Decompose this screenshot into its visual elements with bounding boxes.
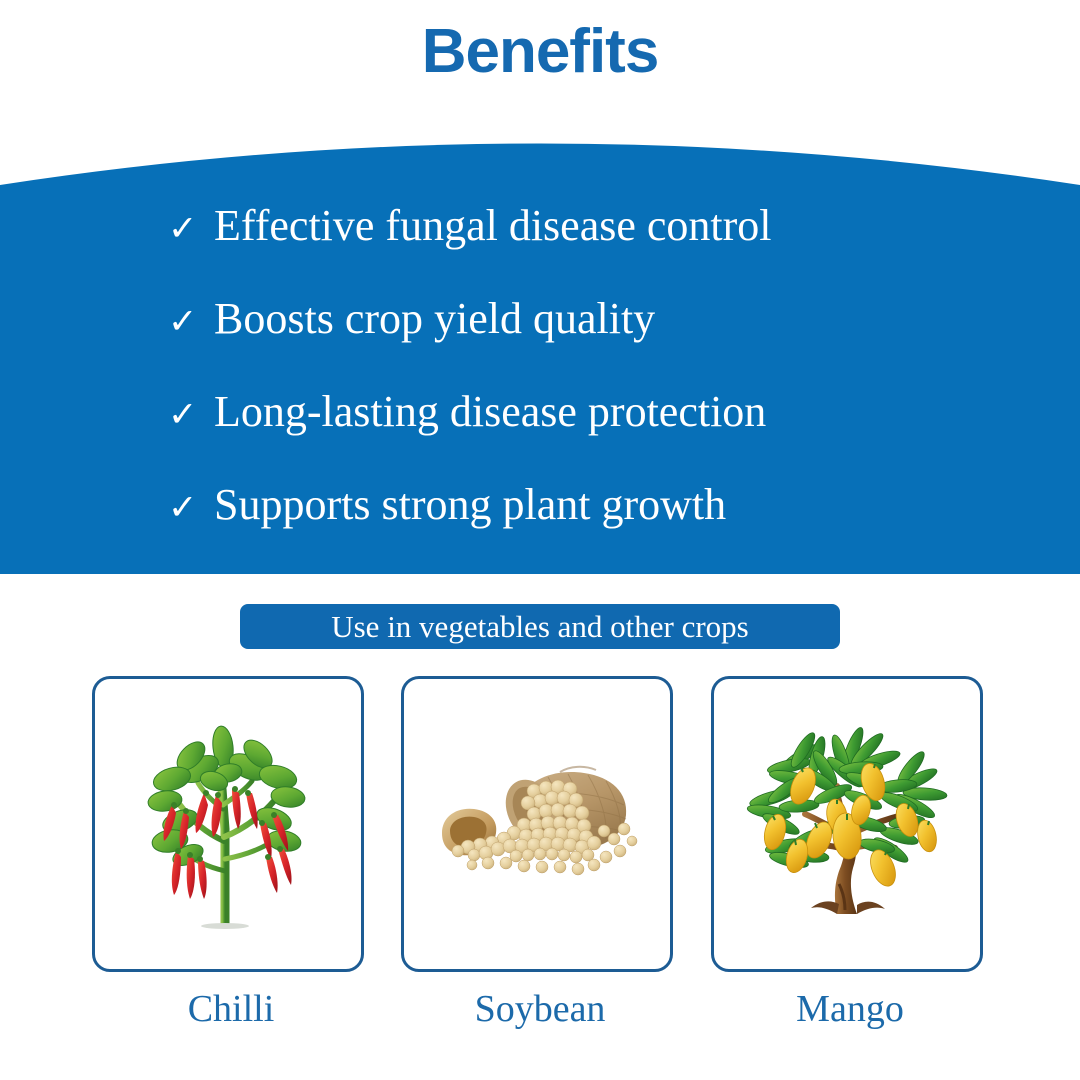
- chilli-plant-illustration: [128, 709, 328, 939]
- mango-tree-illustration: [741, 724, 953, 924]
- benefit-label: Long-lasting disease protection: [214, 390, 766, 434]
- crop-cards-row: Chilli: [0, 676, 1080, 1056]
- soybean-sack-photo: [428, 739, 646, 909]
- crop-item-mango[interactable]: Mango: [711, 676, 989, 1028]
- crop-item-chilli[interactable]: Chilli: [92, 676, 370, 1028]
- crop-label: Mango: [711, 990, 989, 1028]
- benefit-item: ✓ Supports strong plant growth: [168, 483, 726, 527]
- benefit-item: ✓ Long-lasting disease protection: [168, 390, 766, 434]
- use-in-crops-badge: Use in vegetables and other crops: [240, 604, 840, 649]
- crop-item-soybean[interactable]: Soybean: [401, 676, 679, 1028]
- crop-card-mango[interactable]: [711, 676, 983, 972]
- crop-card-chilli[interactable]: [92, 676, 364, 972]
- benefit-label: Supports strong plant growth: [214, 483, 726, 527]
- crop-card-soybean[interactable]: [401, 676, 673, 972]
- check-icon: ✓: [168, 491, 214, 526]
- page-title: Benefits: [0, 18, 1080, 86]
- benefit-item: ✓ Boosts crop yield quality: [168, 297, 655, 341]
- benefits-list: ✓ Effective fungal disease control ✓ Boo…: [0, 118, 1080, 574]
- benefit-label: Boosts crop yield quality: [214, 297, 655, 341]
- crop-label: Soybean: [401, 990, 679, 1028]
- check-icon: ✓: [168, 212, 214, 247]
- check-icon: ✓: [168, 305, 214, 340]
- check-icon: ✓: [168, 398, 214, 433]
- use-in-crops-label: Use in vegetables and other crops: [331, 611, 749, 642]
- benefit-label: Effective fungal disease control: [214, 204, 772, 248]
- crop-label: Chilli: [92, 990, 370, 1028]
- benefit-item: ✓ Effective fungal disease control: [168, 204, 772, 248]
